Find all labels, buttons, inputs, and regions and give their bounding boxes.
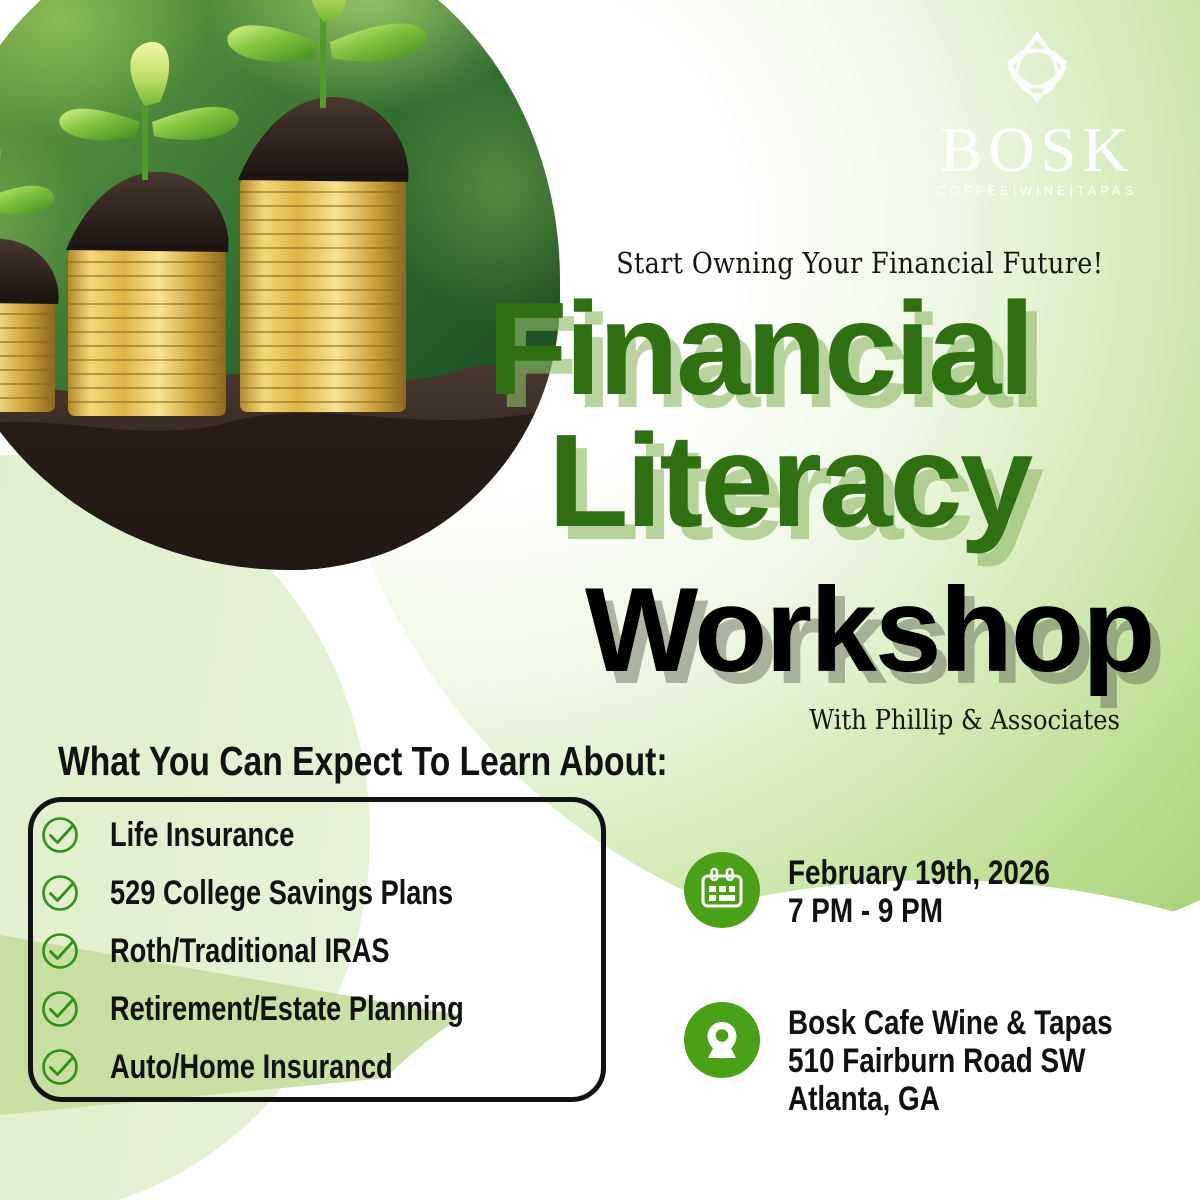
bosk-logo: BOSK COFFEE|WINE|TAPAS bbox=[922, 18, 1152, 198]
list-item: Roth/Traditional IRAS bbox=[40, 922, 600, 980]
calendar-badge bbox=[684, 852, 760, 928]
event-date-line1: February 19th, 2026 bbox=[788, 854, 1050, 892]
venue-line2: 510 Fairburn Road SW bbox=[788, 1042, 1113, 1080]
coins-seedling-illustration bbox=[0, 0, 560, 570]
logo-wordmark: BOSK bbox=[922, 120, 1152, 181]
presenter-byline: With Phillip & Associates bbox=[670, 705, 1120, 736]
title-line-literacy: Literacy bbox=[548, 420, 1030, 541]
list-item: 529 College Savings Plans bbox=[40, 864, 600, 922]
list-item: Life Insurance bbox=[40, 806, 600, 864]
title-line-financial: Financial bbox=[487, 288, 1032, 409]
event-date-line2: 7 PM - 9 PM bbox=[788, 892, 1050, 930]
check-circle-icon bbox=[40, 1047, 80, 1087]
list-item-label: Roth/Traditional IRAS bbox=[110, 932, 390, 971]
list-item-label: Auto/Home Insurancd bbox=[110, 1048, 393, 1087]
list-item: Auto/Home Insurancd bbox=[40, 1038, 600, 1096]
title-line-workshop: Workshop bbox=[585, 575, 1153, 685]
list-item-label: Life Insurance bbox=[110, 816, 294, 855]
venue-line1: Bosk Cafe Wine & Tapas bbox=[788, 1004, 1113, 1042]
learn-heading: What You Can Expect To Learn About: bbox=[58, 738, 668, 785]
poster-canvas: BOSK COFFEE|WINE|TAPAS Start Owning Your… bbox=[0, 0, 1200, 1200]
coins-seedling-photo bbox=[0, 0, 560, 570]
event-date-row: February 19th, 2026 7 PM - 9 PM bbox=[684, 852, 1107, 930]
map-pin-icon bbox=[698, 1016, 746, 1064]
event-venue-row: Bosk Cafe Wine & Tapas 510 Fairburn Road… bbox=[684, 1002, 1184, 1118]
event-date-text: February 19th, 2026 7 PM - 9 PM bbox=[788, 852, 1107, 930]
calendar-icon bbox=[698, 866, 746, 914]
check-circle-icon bbox=[40, 815, 80, 855]
list-item-label: 529 College Savings Plans bbox=[110, 874, 453, 913]
logo-tagline: COFFEE|WINE|TAPAS bbox=[922, 184, 1152, 198]
location-badge bbox=[684, 1002, 760, 1078]
triquetra-knot-icon bbox=[987, 18, 1087, 118]
check-circle-icon bbox=[40, 989, 80, 1029]
learn-list: Life Insurance 529 College Savings Plans… bbox=[40, 806, 600, 1096]
event-venue-text: Bosk Cafe Wine & Tapas 510 Fairburn Road… bbox=[788, 1002, 1184, 1118]
venue-line3: Atlanta, GA bbox=[788, 1080, 1113, 1118]
list-item-label: Retirement/Estate Planning bbox=[110, 990, 464, 1029]
list-item: Retirement/Estate Planning bbox=[40, 980, 600, 1038]
check-circle-icon bbox=[40, 931, 80, 971]
check-circle-icon bbox=[40, 873, 80, 913]
